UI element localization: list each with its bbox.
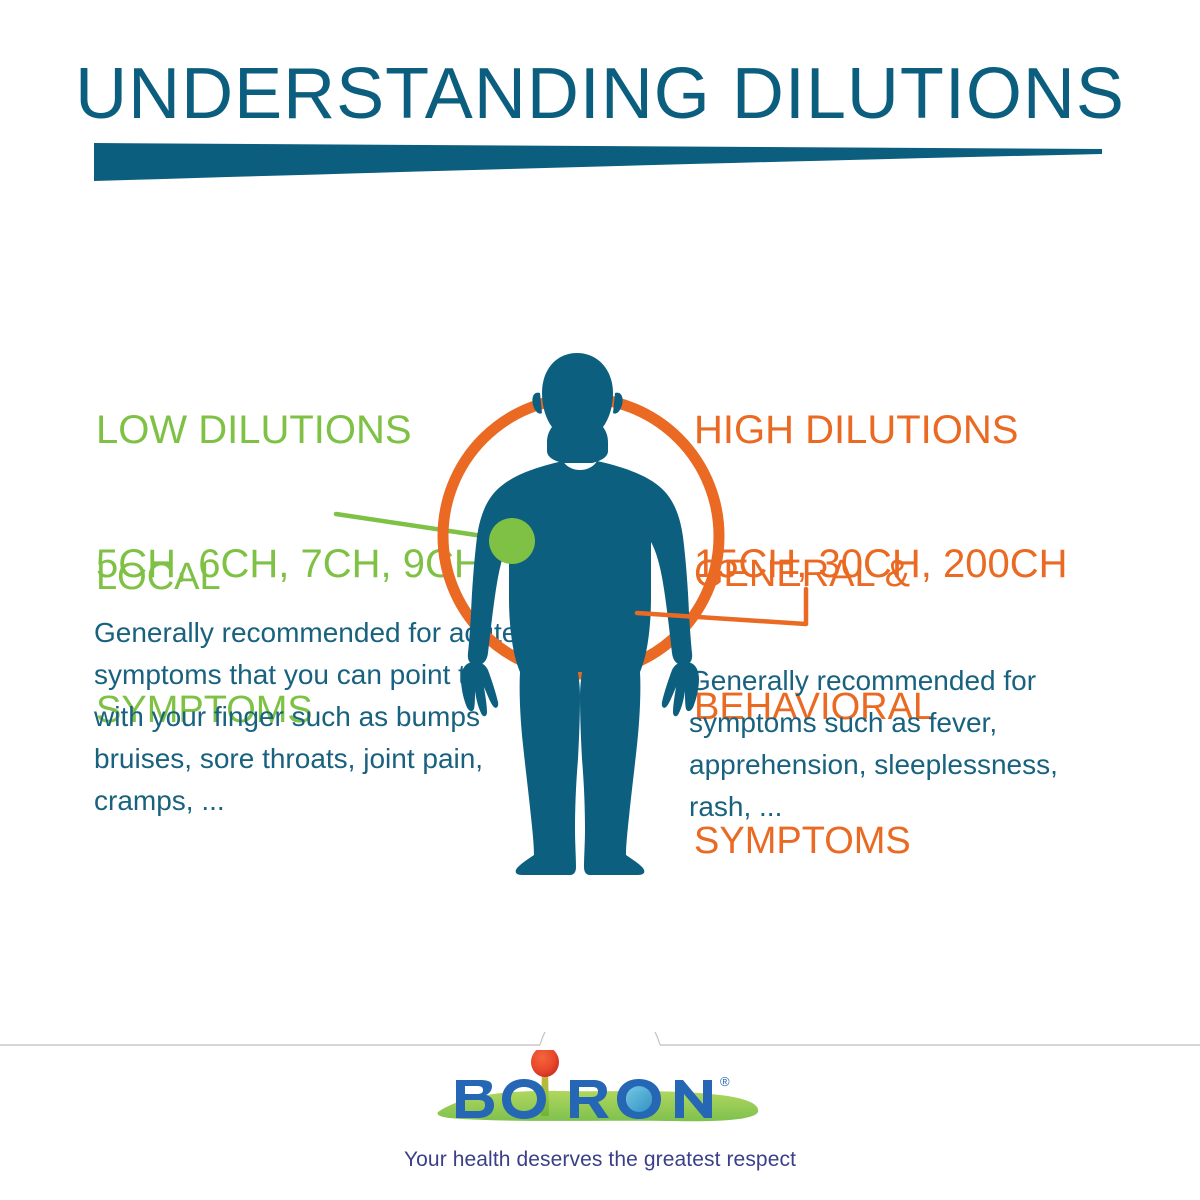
registered-trademark-icon: ®: [720, 1074, 730, 1089]
poppy-flower-icon: [531, 1050, 559, 1077]
registered-mark-glyph: ®: [720, 1074, 730, 1089]
green-local-marker-dot: [489, 518, 535, 564]
body-diagram: [330, 345, 870, 890]
page-title: UNDERSTANDING DILUTIONS: [0, 58, 1200, 130]
title-underline-wedge: [94, 143, 1102, 187]
brand-tagline: Your health deserves the greatest respec…: [0, 1148, 1200, 1172]
orange-connector-line: [637, 589, 806, 624]
boiron-logo: ®: [420, 1050, 780, 1128]
infographic-canvas: UNDERSTANDING DILUTIONS LOW DILUTIONS 5C…: [0, 0, 1200, 1200]
local-symptoms-label-line1: LOCAL: [96, 555, 313, 599]
